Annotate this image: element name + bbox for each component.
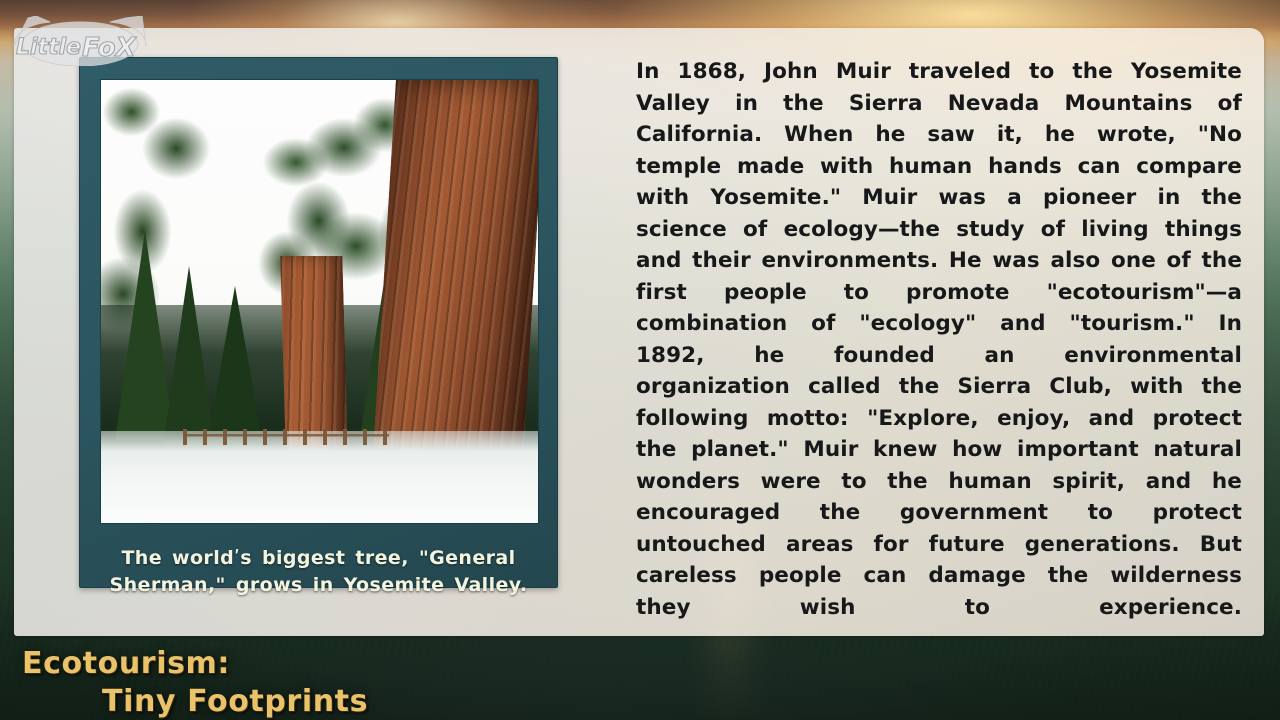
photo-fence [183,429,389,445]
title-line-2: Tiny Footprints [102,684,368,719]
body-paragraph: In 1868, John Muir traveled to the Yosem… [636,56,1242,655]
photo-card: The worldʹs biggest tree, "General Sherm… [79,57,558,588]
little-fox-logo: Little FoX [6,16,176,66]
little-fox-logo-icon: Little FoX [6,16,176,66]
photo-caption-line-1: The worldʹs biggest tree, "General [101,545,536,572]
title-block: Ecotourism: Tiny Footprints [0,634,1280,720]
little-fox-logo-text-2: FoX [82,33,138,63]
sequoia-photo [101,80,538,523]
title-line-1: Ecotourism: [22,646,230,681]
slide-stage: Little FoX The w [0,0,1280,720]
photo-caption: The worldʹs biggest tree, "General Sherm… [101,545,536,599]
little-fox-logo-text-1: Little [16,35,81,60]
photo-caption-line-2: Sherman," grows in Yosemite Valley. [101,572,536,599]
body-text: In 1868, John Muir traveled to the Yosem… [636,56,1242,655]
